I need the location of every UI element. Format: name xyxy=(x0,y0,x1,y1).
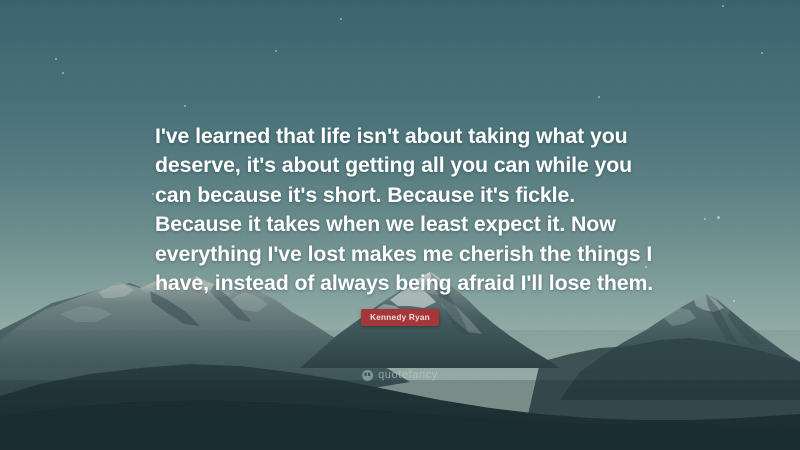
quotefancy-wordmark: quotefancy xyxy=(378,369,438,381)
quotefancy-watermark[interactable]: quotefancy xyxy=(362,369,438,381)
quote-text: I've learned that life isn't about takin… xyxy=(155,122,655,298)
quote-poster: I've learned that life isn't about takin… xyxy=(0,0,800,450)
author-badge[interactable]: Kennedy Ryan xyxy=(361,309,439,326)
quote-mark-icon xyxy=(362,370,373,381)
